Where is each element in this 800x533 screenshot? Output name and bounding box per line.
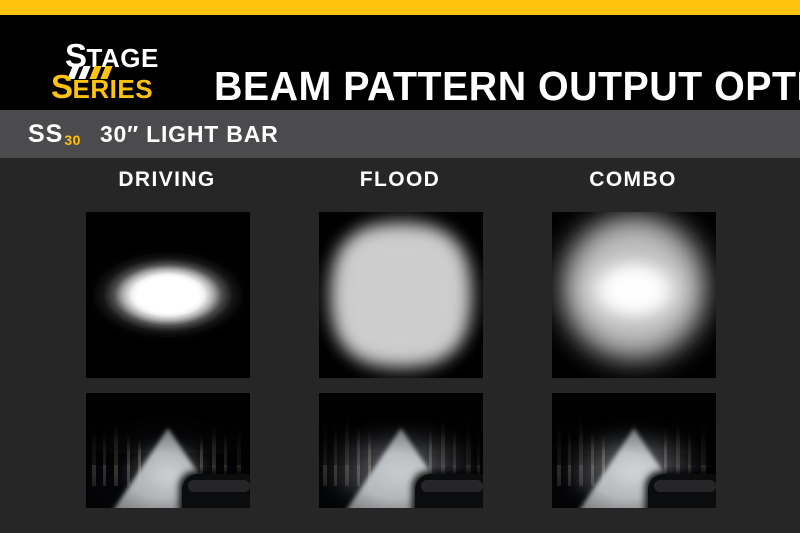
product-name: 30″ LIGHT BAR [100, 123, 279, 146]
photo-vehicle-hood [182, 474, 250, 508]
photo-vehicle-hood [648, 474, 716, 508]
flood-beam-pattern [319, 212, 483, 378]
comparison-grid: DRIVING [0, 158, 800, 533]
page-title: BEAM PATTERN OUTPUT OPTIONS [214, 63, 763, 109]
logo-series-cap: S [51, 68, 73, 105]
top-accent-rule [0, 0, 800, 15]
ss30-badge: SS30 [28, 122, 80, 147]
product-subheader-band: SS30 30″ LIGHT BAR [0, 110, 800, 158]
flood-road-photo [319, 393, 483, 508]
driving-road-photo [86, 393, 250, 508]
ss-badge-prefix: SS [28, 120, 63, 148]
product-subheader: SS30 30″ LIGHT BAR [28, 110, 279, 158]
column-label-flood: FLOOD [281, 168, 519, 192]
column-label-driving: DRIVING [48, 168, 286, 192]
combo-beam-hotspot [572, 247, 696, 333]
combo-beam-pattern [552, 212, 716, 378]
driving-beam-pattern [86, 212, 250, 378]
logo-line-series: SERIES [51, 70, 153, 103]
header-band: STAGE SERIES BEAM PATTERN OUTPUT OPTIONS [0, 15, 800, 110]
logo-series-rest: ERIES [73, 74, 154, 104]
column-label-combo: COMBO [514, 168, 752, 192]
combo-road-photo [552, 393, 716, 508]
ss-badge-number: 30 [64, 132, 81, 148]
driving-beam-halo [86, 220, 250, 370]
photo-vehicle-hood [415, 474, 483, 508]
flood-beam-core [338, 230, 464, 360]
beam-pattern-infographic: STAGE SERIES BEAM PATTERN OUTPUT OPTIONS… [0, 0, 800, 533]
stage-series-logo: STAGE SERIES [34, 39, 194, 115]
